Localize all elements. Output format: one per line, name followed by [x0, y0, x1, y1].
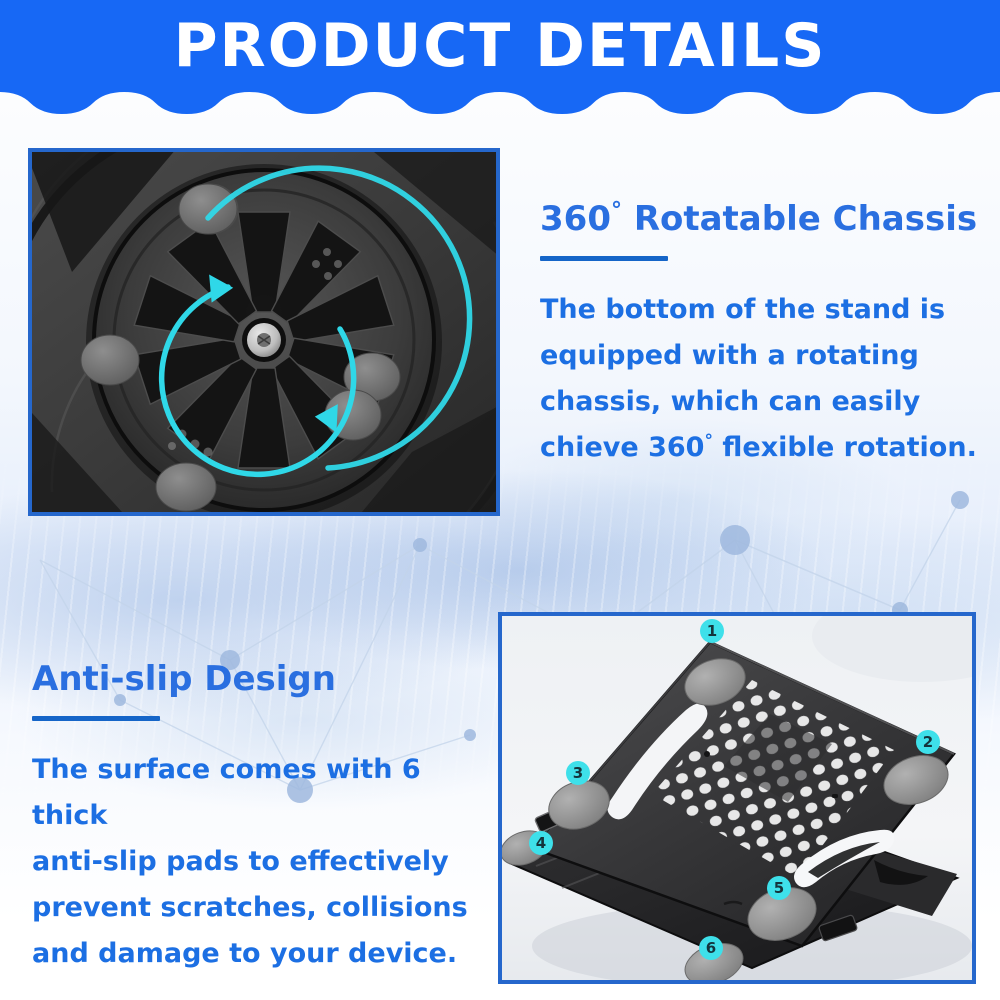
body-line: equipped with a rotating — [540, 333, 980, 379]
section-anti-slip-design: Anti-slip Design The surface comes with … — [32, 658, 492, 977]
pad-badge-3: 3 — [566, 761, 590, 785]
degree-symbol-title: ° — [611, 199, 622, 224]
section-title-rotatable-chassis: 360° Rotatable Chassis — [540, 198, 980, 240]
page-title: PRODUCT DETAILS — [0, 14, 1000, 78]
section-title-anti-slip: Anti-slip Design — [32, 658, 492, 700]
body-line: prevent scratches, collisions — [32, 885, 492, 931]
degree-symbol-body: ° — [704, 431, 713, 451]
body-last-prefix: chieve 360 — [540, 432, 704, 463]
rotating-chassis-photo — [28, 148, 500, 516]
pad-badge-2: 2 — [916, 730, 940, 754]
anti-slip-pads-photo — [498, 612, 976, 984]
rotating-chassis-illustration — [32, 152, 496, 512]
section-title-number: 360 — [540, 199, 611, 239]
pad-badge-6: 6 — [699, 936, 723, 960]
pad-badge-1: 1 — [700, 619, 724, 643]
body-line-last: chieve 360° flexible rotation. — [540, 425, 980, 471]
title-divider-rule — [32, 716, 160, 721]
body-line: The surface comes with 6 thick — [32, 747, 492, 839]
title-divider-rule — [540, 256, 668, 261]
body-line: and damage to your device. — [32, 931, 492, 977]
section-rotatable-chassis: 360° Rotatable Chassis The bottom of the… — [540, 198, 980, 471]
product-details-page: PRODUCT DETAILS — [0, 0, 1000, 1000]
body-last-suffix: flexible rotation. — [713, 432, 977, 463]
section-title-rest: Rotatable Chassis — [622, 199, 977, 239]
body-line: The bottom of the stand is — [540, 287, 980, 333]
body-line: chassis, which can easily — [540, 379, 980, 425]
anti-slip-pads-illustration — [502, 616, 972, 980]
section-body-anti-slip: The surface comes with 6 thick anti-slip… — [32, 747, 492, 977]
section-body-rotatable-chassis: The bottom of the stand is equipped with… — [540, 287, 980, 471]
header-banner: PRODUCT DETAILS — [0, 0, 1000, 116]
pad-badge-4: 4 — [529, 831, 553, 855]
pad-badge-5: 5 — [767, 876, 791, 900]
body-line: anti-slip pads to effectively — [32, 839, 492, 885]
